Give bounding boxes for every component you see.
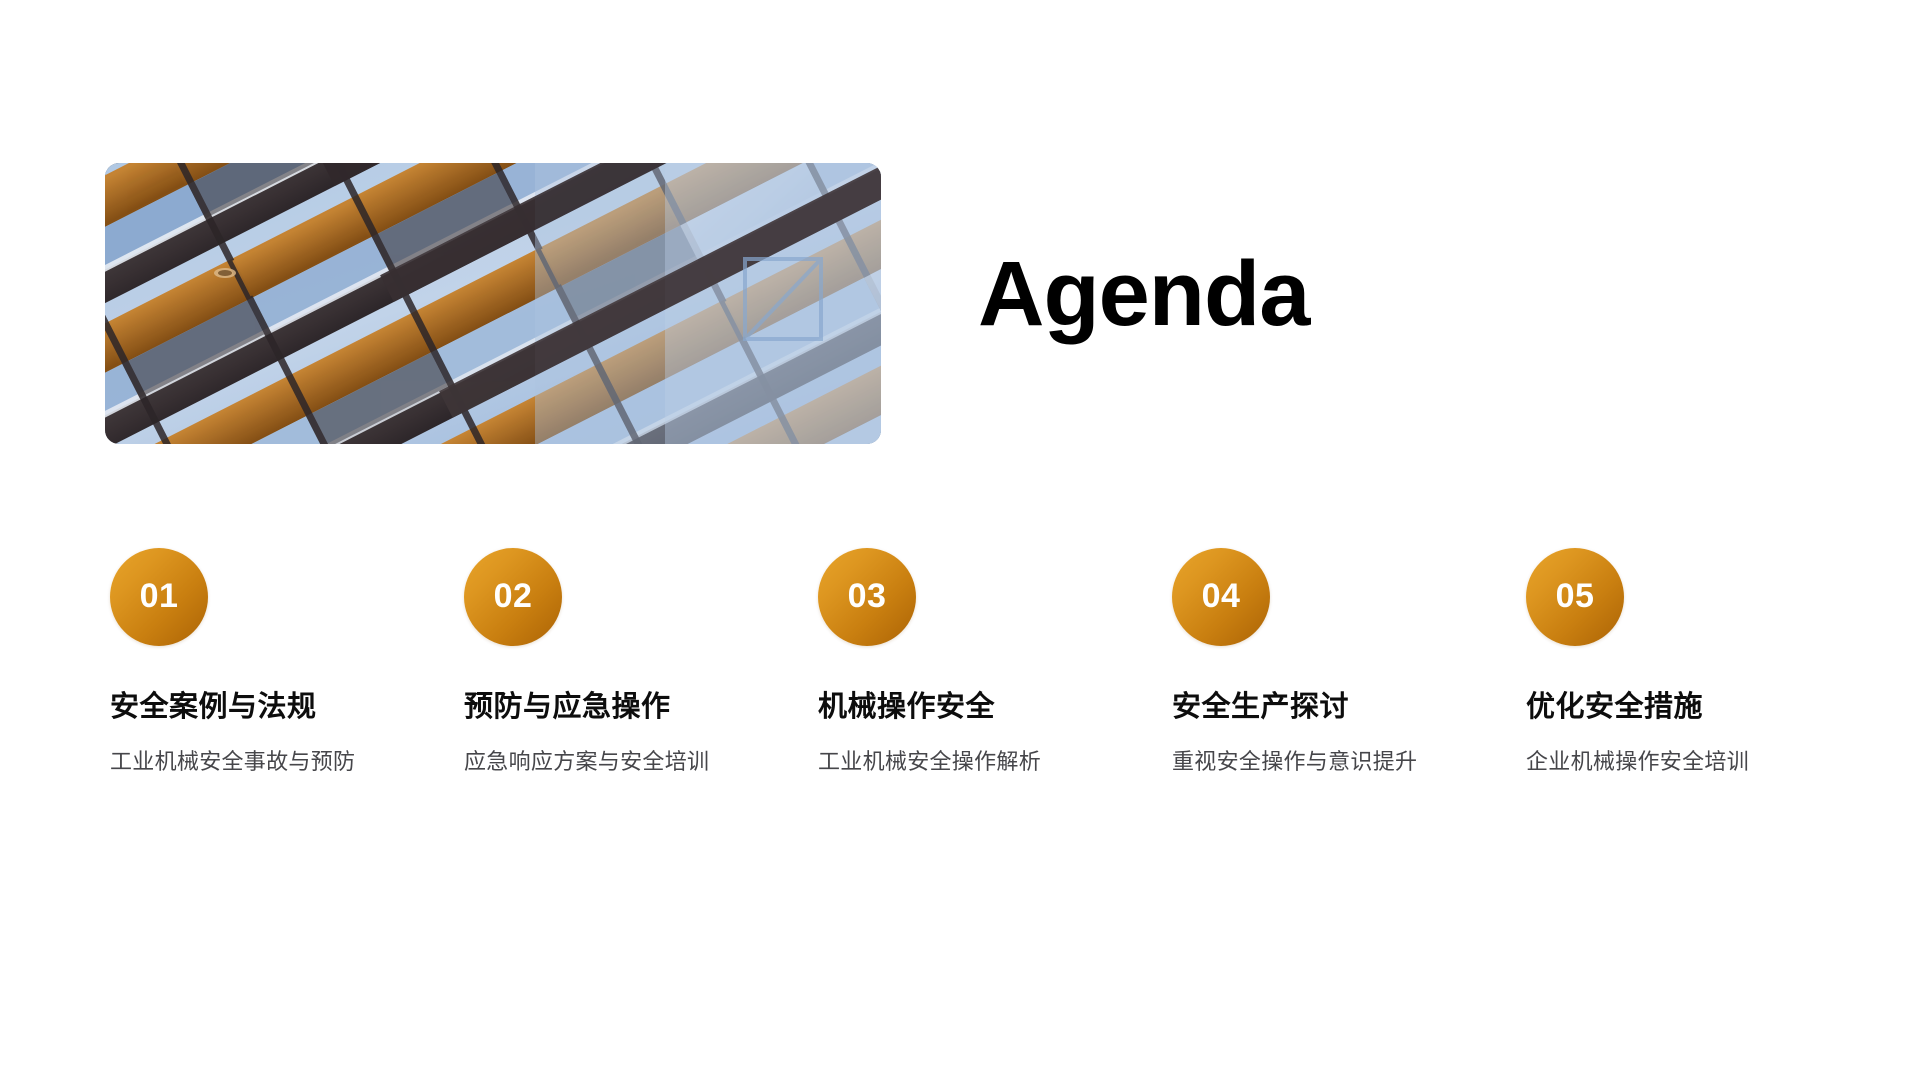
hero-image — [105, 163, 881, 444]
agenda-number-badge: 03 — [818, 548, 916, 646]
agenda-item-05[interactable]: 05 优化安全措施 企业机械操作安全培训 — [1526, 548, 1856, 777]
agenda-item-subtitle: 应急响应方案与安全培训 — [464, 748, 794, 777]
agenda-number-badge: 02 — [464, 548, 562, 646]
agenda-item-subtitle: 企业机械操作安全培训 — [1526, 748, 1856, 777]
agenda-item-subtitle: 工业机械安全事故与预防 — [110, 748, 440, 777]
agenda-number: 01 — [140, 579, 179, 613]
agenda-item-04[interactable]: 04 安全生产探讨 重视安全操作与意识提升 — [1172, 548, 1502, 777]
agenda-item-01[interactable]: 01 安全案例与法规 工业机械安全事故与预防 — [110, 548, 440, 777]
agenda-number-badge: 04 — [1172, 548, 1270, 646]
agenda-item-heading: 机械操作安全 — [818, 691, 1148, 724]
agenda-number-badge: 05 — [1526, 548, 1624, 646]
agenda-item-02[interactable]: 02 预防与应急操作 应急响应方案与安全培训 — [464, 548, 794, 777]
agenda-item-heading: 预防与应急操作 — [464, 691, 794, 724]
agenda-number: 02 — [494, 579, 533, 613]
agenda-number: 05 — [1556, 579, 1595, 613]
agenda-item-heading: 优化安全措施 — [1526, 691, 1856, 724]
agenda-slide: Agenda 01 安全案例与法规 工业机械安全事故与预防 02 预防与应急操作… — [0, 0, 1920, 1080]
agenda-number-badge: 01 — [110, 548, 208, 646]
page-title: Agenda — [978, 248, 1309, 340]
agenda-item-subtitle: 工业机械安全操作解析 — [818, 748, 1148, 777]
building-facade-illustration — [105, 163, 881, 444]
agenda-number: 04 — [1202, 579, 1241, 613]
agenda-item-heading: 安全生产探讨 — [1172, 691, 1502, 724]
agenda-number: 03 — [848, 579, 887, 613]
agenda-item-heading: 安全案例与法规 — [110, 691, 440, 724]
agenda-item-subtitle: 重视安全操作与意识提升 — [1172, 748, 1502, 777]
agenda-item-03[interactable]: 03 机械操作安全 工业机械安全操作解析 — [818, 548, 1148, 777]
agenda-list: 01 安全案例与法规 工业机械安全事故与预防 02 预防与应急操作 应急响应方案… — [0, 548, 1920, 808]
